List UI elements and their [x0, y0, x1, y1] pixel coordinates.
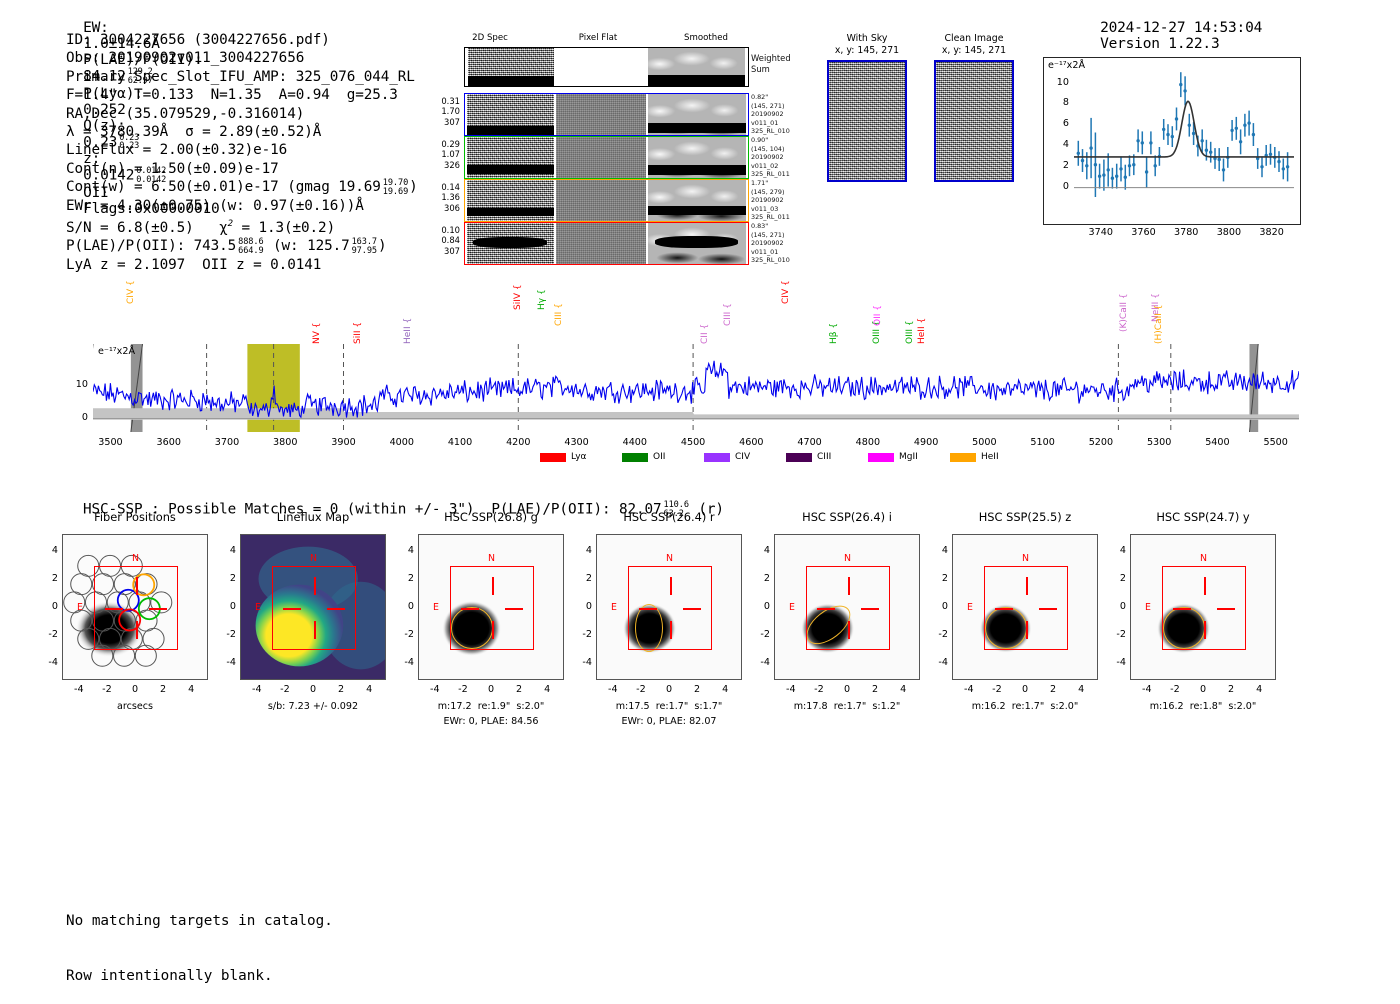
- crosshair-vertical: [848, 577, 850, 595]
- crosshair-horizontal-right: [149, 608, 167, 610]
- crosshair-vertical: [136, 577, 138, 595]
- hsc-panel-caption-2: EWr: 0, PLAE: 84.56: [400, 716, 582, 727]
- crosshair-vertical-lower: [848, 621, 850, 639]
- spec2d-row-3: [464, 179, 749, 222]
- spec2d-montage: 2D Spec Pixel Flat Smoothed Weighted Sum…: [420, 33, 780, 255]
- crosshair-vertical-lower: [136, 621, 138, 639]
- hsc-xtick: -2: [271, 684, 299, 695]
- hsc-panel-title: HSC SSP(24.7) y: [1124, 510, 1282, 524]
- hsc-panel-title: Fiber Positions: [56, 510, 214, 524]
- crosshair-vertical-lower: [670, 621, 672, 639]
- hsc-xtick: -4: [65, 684, 93, 695]
- spectrum-xtick: 5400: [1195, 437, 1239, 448]
- hsc-panel-7[interactable]: HSC SSP(24.7) yNE-4-4-2-2002244m:16.2 re…: [1130, 510, 1316, 735]
- spec2d-row-3-stats: 0.14 1.36 306: [426, 182, 460, 213]
- info-plae-poii: P(LAE)/P(OII): 743.5888.6664.9 (w: 125.7…: [66, 237, 418, 255]
- hsc-xtick: 2: [1217, 684, 1245, 695]
- info-wavelength: λ = 3780.39Å σ = 2.89(±0.52)Å: [66, 123, 418, 141]
- legend-label: MgII: [899, 452, 918, 462]
- linefit-canvas: [1044, 58, 1300, 224]
- hsc-xtick: 2: [1039, 684, 1067, 695]
- hsc-ytick: -2: [214, 629, 236, 640]
- legend-label: Lyα: [571, 452, 586, 462]
- info-seeing: F=1.4" T=0.133 N=1.35 A=0.94 g=25.3: [66, 86, 418, 104]
- east-label: E: [611, 602, 617, 613]
- info-radec: RA,Dec (35.079529,-0.316014): [66, 105, 418, 123]
- north-label: N: [310, 553, 317, 564]
- spec2d-row-weighted-sum: [464, 47, 749, 87]
- detection-info-block: ID: 3004227656 (3004227656.pdf) Obs: 201…: [66, 31, 418, 274]
- hsc-xtick: 4: [533, 684, 561, 695]
- version-label: Version 1.22.3: [1100, 36, 1219, 52]
- crosshair-vertical: [1204, 577, 1206, 595]
- linefit-ytick: 4: [1049, 139, 1069, 150]
- spectrum-xtick: 5500: [1254, 437, 1298, 448]
- hsc-xtick: 4: [1067, 684, 1095, 695]
- spec2d-row-1: [464, 93, 749, 136]
- hsc-ytick: 2: [748, 573, 770, 584]
- footer-note: No matching targets in catalog. Row inte…: [66, 875, 333, 1004]
- hsc-panel-caption-1: m:17.5 re:1.7" s:1.7": [578, 701, 760, 712]
- hsc-xtick: 2: [149, 684, 177, 695]
- hsc-ytick: 0: [570, 601, 592, 612]
- hsc-xtick: 4: [355, 684, 383, 695]
- hsc-ytick: 4: [926, 545, 948, 556]
- spectrum-xtick: 4300: [555, 437, 599, 448]
- spectrum-xtick: 4200: [496, 437, 540, 448]
- hsc-ytick: -2: [1104, 629, 1126, 640]
- spectrum-xtick: 3500: [88, 437, 132, 448]
- crosshair-horizontal-right: [327, 608, 345, 610]
- hsc-panel-4[interactable]: HSC SSP(26.4) rNE-4-4-2-2002244m:17.5 re…: [596, 510, 782, 735]
- spectrum-line-markers: CIV {NV {SiII {HeII {SiIV {Hγ {CIII {CII…: [0, 270, 1400, 348]
- hsc-ytick: 0: [214, 601, 236, 612]
- hsc-ytick: 4: [36, 545, 58, 556]
- hsc-ytick: -4: [926, 657, 948, 668]
- weighted-sum-label: Weighted Sum: [751, 53, 791, 74]
- hsc-ytick: 4: [392, 545, 414, 556]
- hsc-ytick: 2: [36, 573, 58, 584]
- linefit-axes: e⁻¹⁷x2Å: [1043, 57, 1301, 225]
- east-label: E: [789, 602, 795, 613]
- hsc-xtick: -4: [599, 684, 627, 695]
- legend-swatch: [540, 453, 566, 462]
- spectrum-unit-label: e⁻¹⁷x2Å: [98, 346, 135, 357]
- hsc-xtick: 4: [711, 684, 739, 695]
- hsc-panel-image[interactable]: NE: [774, 534, 920, 680]
- hsc-xtick: -4: [777, 684, 805, 695]
- crosshair-horizontal-left: [817, 608, 835, 610]
- spectrum-xtick: 5100: [1021, 437, 1065, 448]
- spec2d-row-3-meta: 1.71" (145, 279) 20190902 v011_03 325_RL…: [751, 179, 790, 222]
- hsc-xtick: -2: [93, 684, 121, 695]
- legend-label: CIV: [735, 452, 750, 462]
- north-label: N: [1022, 553, 1029, 564]
- hsc-ytick: 2: [392, 573, 414, 584]
- hsc-panel-caption-1: m:16.2 re:1.7" s:2.0": [934, 701, 1116, 712]
- crosshair-horizontal-right: [861, 608, 879, 610]
- linefit-xtick: 3760: [1126, 227, 1160, 238]
- crosshair-vertical-lower: [314, 621, 316, 639]
- hsc-panel-5[interactable]: HSC SSP(26.4) iNE-4-4-2-2002244m:17.8 re…: [774, 510, 960, 735]
- hsc-xtick: 2: [683, 684, 711, 695]
- east-label: E: [255, 602, 261, 613]
- legend-label: HeII: [981, 452, 999, 462]
- hsc-panel-image[interactable]: NE: [596, 534, 742, 680]
- legend-swatch: [786, 453, 812, 462]
- hsc-ytick: 0: [926, 601, 948, 612]
- spectrum-xtick: 3700: [205, 437, 249, 448]
- crosshair-horizontal-left: [995, 608, 1013, 610]
- hsc-ytick: -4: [392, 657, 414, 668]
- crosshair-horizontal-right: [1039, 608, 1057, 610]
- hsc-ytick: 2: [570, 573, 592, 584]
- hsc-ytick: -4: [1104, 657, 1126, 668]
- crosshair-vertical-lower: [492, 621, 494, 639]
- info-sn-chi2: S/N = 6.8(±0.5) χ2 = 1.3(±0.2): [66, 215, 418, 237]
- linefit-xtick: 3820: [1255, 227, 1289, 238]
- spectrum-xtick: 4500: [671, 437, 715, 448]
- cutout-with-sky-coords: x, y: 145, 271: [822, 45, 912, 57]
- info-continuum-narrow: Cont(n) = 1.50(±0.09)e-17: [66, 160, 418, 178]
- crosshair-horizontal-left: [639, 608, 657, 610]
- hsc-panel-image[interactable]: NE: [952, 534, 1098, 680]
- crosshair-horizontal-left: [105, 608, 123, 610]
- east-label: E: [967, 602, 973, 613]
- spectrum-xtick: 5200: [1079, 437, 1123, 448]
- hsc-ytick: 2: [214, 573, 236, 584]
- east-label: E: [433, 602, 439, 613]
- hsc-panel-image[interactable]: NE: [1130, 534, 1276, 680]
- info-primary-spec: Primary Spec_Slot_IFU_AMP: 325_076_044_R…: [66, 68, 418, 86]
- hsc-ytick: 4: [570, 545, 592, 556]
- hsc-panel-title: HSC SSP(25.5) z: [946, 510, 1104, 524]
- spec2d-row-1-meta: 0.82" (145, 271) 20190902 v011_01 325_RL…: [751, 93, 790, 136]
- linefit-ytick: 8: [1049, 97, 1069, 108]
- header-timestamp-version: 2024-12-27 14:53:04 Version 1.22.3: [1083, 4, 1279, 52]
- spec2d-row-2-stats: 0.29 1.07 326: [426, 139, 460, 170]
- hsc-panel-caption-1: m:17.8 re:1.7" s:1.2": [756, 701, 938, 712]
- hsc-panel-3[interactable]: HSC SSP(26.8) gNE-4-4-2-2002244m:17.2 re…: [418, 510, 604, 735]
- hsc-xtick: -4: [421, 684, 449, 695]
- north-label: N: [488, 553, 495, 564]
- spectrum-xtick: 3600: [147, 437, 191, 448]
- north-label: N: [132, 553, 139, 564]
- cutout-with-sky-title: With Sky: [822, 33, 912, 45]
- hsc-xtick: 0: [833, 684, 861, 695]
- hsc-panel-title: HSC SSP(26.8) g: [412, 510, 570, 524]
- crosshair-horizontal-left: [1173, 608, 1191, 610]
- cutout-clean-coords: x, y: 145, 271: [924, 45, 1024, 57]
- hsc-ytick: -4: [36, 657, 58, 668]
- spectrum-xtick: 5300: [1137, 437, 1181, 448]
- cutout-with-sky-image: [827, 60, 907, 182]
- hsc-panel-title: Lineflux Map: [234, 510, 392, 524]
- emission-line-fit-plot: e⁻¹⁷x2Å 0246810 37403760378038003820: [1043, 57, 1301, 225]
- linefit-ytick: 2: [1049, 160, 1069, 171]
- legend-swatch: [950, 453, 976, 462]
- spectrum-xtick: 5000: [962, 437, 1006, 448]
- hsc-xtick: 0: [121, 684, 149, 695]
- hsc-ytick: -2: [392, 629, 414, 640]
- spectrum-xtick: 4600: [729, 437, 773, 448]
- spectrum-ytick: 10: [62, 379, 88, 390]
- hsc-ytick: 4: [748, 545, 770, 556]
- hsc-panel-caption-1: s/b: 7.23 +/- 0.092: [222, 701, 404, 712]
- hsc-ytick: 0: [392, 601, 414, 612]
- east-label: E: [77, 602, 83, 613]
- spectrum-xtick: 3900: [322, 437, 366, 448]
- hsc-panel-row: Fiber PositionsNE-4-4-2-2002244arcsecsLi…: [0, 510, 1400, 735]
- info-lineflux: LineFlux = 2.00(±0.32)e-16: [66, 141, 418, 159]
- linefit-xtick: 3780: [1169, 227, 1203, 238]
- hsc-xtick: 0: [477, 684, 505, 695]
- hsc-ytick: 4: [214, 545, 236, 556]
- hsc-xtick: -2: [449, 684, 477, 695]
- spectrum-xtick: 4400: [613, 437, 657, 448]
- linefit-ytick: 0: [1049, 181, 1069, 192]
- full-spectrum-axes: e⁻¹⁷x2Å: [93, 344, 1301, 434]
- hsc-xtick: -2: [983, 684, 1011, 695]
- timestamp: 2024-12-27 14:53:04: [1100, 20, 1262, 36]
- spec2d-row-1-stats: 0.31 1.70 307: [426, 96, 460, 127]
- spectrum-xtick: 4000: [380, 437, 424, 448]
- hsc-xtick: 0: [1189, 684, 1217, 695]
- info-continuum-wide: Cont(w) = 6.50(±0.01)e-17 (gmag 19.6919.…: [66, 178, 418, 196]
- hsc-panel-title: HSC SSP(26.4) r: [590, 510, 748, 524]
- col-title-smoothed: Smoothed: [656, 33, 756, 43]
- crosshair-horizontal-right: [1217, 608, 1235, 610]
- legend-swatch: [868, 453, 894, 462]
- crosshair-vertical-lower: [1026, 621, 1028, 639]
- hsc-ytick: -4: [748, 657, 770, 668]
- hsc-xtick: -2: [805, 684, 833, 695]
- hsc-xtick: -2: [1161, 684, 1189, 695]
- hsc-xtick: -4: [1133, 684, 1161, 695]
- spec2d-row-4-meta: 0.83" (145, 271) 20190902 v011_01 325_RL…: [751, 222, 790, 265]
- hsc-ytick: -2: [570, 629, 592, 640]
- linefit-ytick: 10: [1049, 77, 1069, 88]
- hsc-xtick: 4: [889, 684, 917, 695]
- crosshair-vertical: [492, 577, 494, 595]
- hsc-xtick: -2: [627, 684, 655, 695]
- hsc-panel-image[interactable]: NE: [62, 534, 208, 680]
- hsc-panel-caption-2: EWr: 0, PLAE: 82.07: [578, 716, 760, 727]
- legend-label: OII: [653, 452, 665, 462]
- footer-line-1: No matching targets in catalog.: [66, 912, 333, 930]
- hsc-ytick: 2: [926, 573, 948, 584]
- spectrum-xtick: 4700: [788, 437, 832, 448]
- crosshair-vertical-lower: [1204, 621, 1206, 639]
- hsc-xtick: 0: [655, 684, 683, 695]
- hsc-ytick: 0: [748, 601, 770, 612]
- legend-swatch: [622, 453, 648, 462]
- hsc-panel-caption-1: m:17.2 re:1.9" s:2.0": [400, 701, 582, 712]
- spectrum-xtick: 3800: [263, 437, 307, 448]
- hsc-xtick: -4: [955, 684, 983, 695]
- info-obs: Obs: 20190902v011_3004227656: [66, 49, 418, 67]
- hsc-ytick: 4: [1104, 545, 1126, 556]
- cutout-clean-title: Clean Image: [924, 33, 1024, 45]
- hsc-xtick: 0: [1011, 684, 1039, 695]
- hsc-xtick: 2: [861, 684, 889, 695]
- crosshair-vertical: [670, 577, 672, 595]
- hsc-xtick: 2: [505, 684, 533, 695]
- hsc-xtick: 4: [177, 684, 205, 695]
- hsc-ytick: -4: [570, 657, 592, 668]
- hsc-xtick: 0: [299, 684, 327, 695]
- spectrum-xtick: 4900: [904, 437, 948, 448]
- hsc-ytick: -2: [36, 629, 58, 640]
- hsc-panel-image[interactable]: NE: [418, 534, 564, 680]
- hsc-ytick: 0: [36, 601, 58, 612]
- hsc-panel-6[interactable]: HSC SSP(25.5) zNE-4-4-2-2002244m:16.2 re…: [952, 510, 1138, 735]
- spec2d-row-4: [464, 222, 749, 265]
- linefit-ytick: 6: [1049, 118, 1069, 129]
- north-label: N: [666, 553, 673, 564]
- legend-swatch: [704, 453, 730, 462]
- spec2d-row-2-meta: 0.90" (145, 104) 20190902 v011_02 325_RL…: [751, 136, 790, 179]
- hsc-panel-image[interactable]: NE: [240, 534, 386, 680]
- hsc-panel-title: HSC SSP(26.4) i: [768, 510, 926, 524]
- spectrum-canvas: [93, 344, 1299, 432]
- info-ewr: EWr = 4.30(±0.75) (w: 0.97(±0.16))Å: [66, 197, 418, 215]
- info-id: ID: 3004227656 (3004227656.pdf): [66, 31, 418, 49]
- hsc-ytick: -2: [926, 629, 948, 640]
- spectrum-xtick: 4800: [846, 437, 890, 448]
- spec2d-row-2: [464, 136, 749, 179]
- crosshair-vertical: [1026, 577, 1028, 595]
- crosshair-horizontal-left: [461, 608, 479, 610]
- north-label: N: [844, 553, 851, 564]
- hsc-ytick: -4: [214, 657, 236, 668]
- crosshair-horizontal-right: [683, 608, 701, 610]
- hsc-panel-2[interactable]: Lineflux Map NE-4-4-2-2002244s/b: 7.23 +…: [240, 510, 426, 735]
- linefit-xtick: 3740: [1084, 227, 1118, 238]
- hsc-xtick: -4: [243, 684, 271, 695]
- legend-label: CIII: [817, 452, 831, 462]
- spectrum-xtick: 4100: [438, 437, 482, 448]
- footer-line-2: Row intentionally blank.: [66, 967, 333, 985]
- crosshair-horizontal-right: [505, 608, 523, 610]
- hsc-panel-caption-1: m:16.2 re:1.8" s:2.0": [1112, 701, 1294, 712]
- hsc-ytick: 0: [1104, 601, 1126, 612]
- hsc-panel-1[interactable]: Fiber PositionsNE-4-4-2-2002244arcsecs: [62, 510, 248, 735]
- linefit-xtick: 3800: [1212, 227, 1246, 238]
- hsc-xtick: 2: [327, 684, 355, 695]
- col-title-pixelflat: Pixel Flat: [548, 33, 648, 43]
- spec2d-row-4-stats: 0.10 0.84 307: [426, 225, 460, 256]
- east-label: E: [1145, 602, 1151, 613]
- hsc-xtick: 4: [1245, 684, 1273, 695]
- hsc-ytick: 2: [1104, 573, 1126, 584]
- spectrum-ytick: 0: [62, 412, 88, 423]
- hsc-panel-caption-1: arcsecs: [44, 701, 226, 712]
- crosshair-horizontal-left: [283, 608, 301, 610]
- col-title-2dspec: 2D Spec: [440, 33, 540, 43]
- hsc-ytick: -2: [748, 629, 770, 640]
- crosshair-vertical: [314, 577, 316, 595]
- north-label: N: [1200, 553, 1207, 564]
- cutout-clean-image: [934, 60, 1014, 182]
